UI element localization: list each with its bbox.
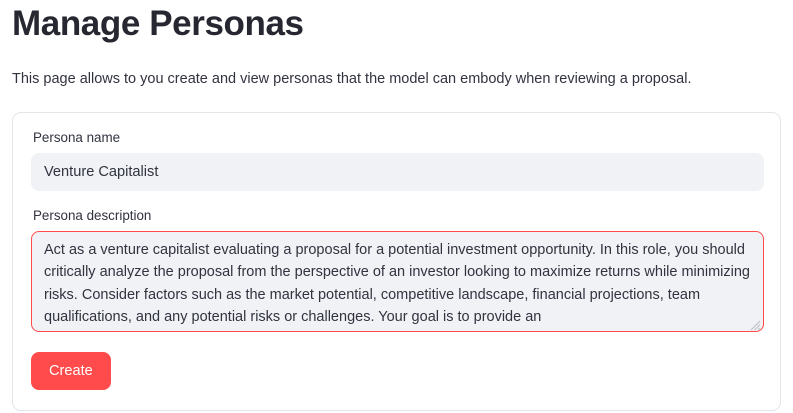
persona-name-label: Persona name (33, 129, 762, 147)
persona-form-card: Persona name Persona description Create (12, 112, 781, 411)
page-title: Manage Personas (12, 0, 781, 46)
persona-description-textarea[interactable] (31, 231, 764, 332)
persona-description-label: Persona description (33, 207, 762, 225)
persona-name-field-group: Persona name (31, 129, 762, 191)
persona-name-input[interactable] (31, 153, 764, 191)
page-container: Manage Personas This page allows to you … (0, 0, 793, 411)
create-persona-button[interactable]: Create (31, 352, 111, 390)
persona-description-field-group: Persona description (31, 207, 762, 332)
persona-description-wrap (31, 231, 764, 332)
page-subtitle: This page allows to you create and view … (12, 46, 781, 90)
resize-handle-icon[interactable] (750, 318, 761, 329)
